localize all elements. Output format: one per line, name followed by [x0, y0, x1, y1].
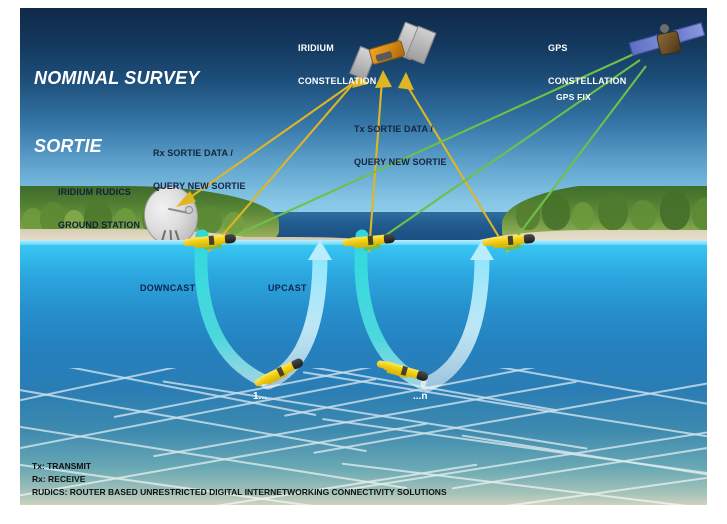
tx-label-line2: QUERY NEW SORTIE — [354, 157, 447, 168]
ground-station-label: IRIDIUM RUDICS GROUND STATION — [58, 164, 140, 254]
gps-label-line1: GPS — [548, 43, 626, 54]
iridium-label-line1: IRIDIUM — [298, 43, 376, 54]
ground-station-line1: IRIDIUM RUDICS — [58, 187, 140, 198]
iridium-label-line2: CONSTELLATION — [298, 76, 376, 87]
legend-line-tx: Tx: TRANSMIT — [32, 460, 447, 473]
legend-line-rx: Rx: RECEIVE — [32, 473, 447, 486]
page-title-line1: NOMINAL SURVEY — [34, 67, 200, 90]
gps-fix-label: GPS FIX — [556, 92, 591, 103]
glider-marker-first: 1... — [253, 391, 267, 404]
tx-label-line1: Tx SORTIE DATA / — [354, 124, 447, 135]
rx-label-line1: Rx SORTIE DATA / — [153, 148, 246, 159]
glider-marker-last: ...n — [413, 391, 427, 404]
ground-station-line2: GROUND STATION — [58, 220, 140, 231]
rx-label-line2: QUERY NEW SORTIE — [153, 181, 246, 192]
artwork-panel: NOMINAL SURVEY SORTIE IRIDIUM CONSTELLAT… — [20, 8, 707, 505]
acronym-legend: Tx: TRANSMIT Rx: RECEIVE RUDICS: ROUTER … — [32, 460, 447, 500]
iridium-constellation-label: IRIDIUM CONSTELLATION — [298, 20, 376, 110]
diagram-canvas: NOMINAL SURVEY SORTIE IRIDIUM CONSTELLAT… — [0, 0, 727, 524]
tx-sortie-data-label: Tx SORTIE DATA / QUERY NEW SORTIE — [354, 101, 447, 191]
gps-satellite-icon — [630, 20, 702, 68]
downcast-label: DOWNCAST — [140, 283, 195, 294]
rx-sortie-data-label: Rx SORTIE DATA / QUERY NEW SORTIE — [153, 125, 246, 215]
legend-line-rudics: RUDICS: ROUTER BASED UNRESTRICTED DIGITA… — [32, 486, 447, 499]
gps-label-line2: CONSTELLATION — [548, 76, 626, 87]
upcast-label: UPCAST — [268, 283, 307, 294]
